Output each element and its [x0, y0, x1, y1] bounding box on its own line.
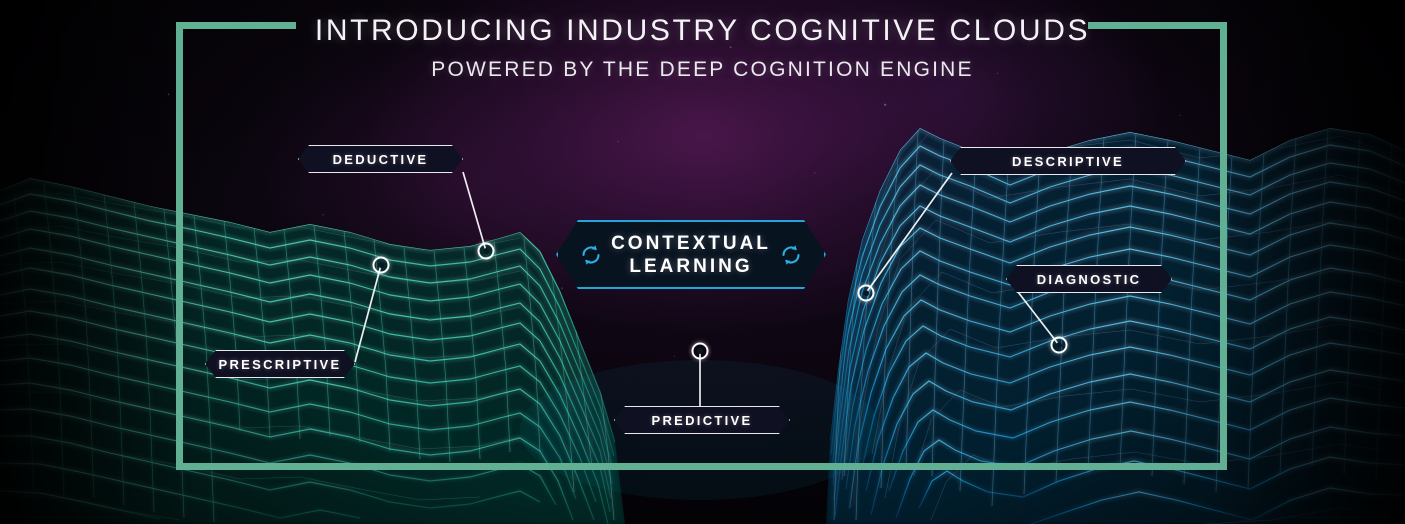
node-marker-deductive[interactable] — [478, 243, 495, 260]
node-marker-prescriptive[interactable] — [373, 257, 390, 274]
chip-label-prescriptive: PRESCRIPTIVE — [213, 357, 348, 372]
frame-left-segment — [176, 22, 183, 470]
page-subtitle: POWERED BY THE DEEP COGNITION ENGINE — [0, 58, 1405, 82]
node-marker-diagnostic[interactable] — [1051, 337, 1068, 354]
contextual-learning-badge[interactable]: CONTEXTUAL LEARNING — [556, 220, 826, 289]
chip-predictive[interactable]: PREDICTIVE — [614, 406, 790, 434]
chip-deductive[interactable]: DEDUCTIVE — [298, 145, 463, 173]
cycle-refresh-icon-left — [578, 242, 604, 268]
frame-right-segment — [1220, 22, 1227, 470]
chip-descriptive[interactable]: DESCRIPTIVE — [950, 147, 1186, 175]
cognitive-clouds-banner: INTRODUCING INDUSTRY COGNITIVE CLOUDS PO… — [0, 0, 1405, 524]
chip-label-predictive: PREDICTIVE — [645, 413, 758, 428]
chip-diagnostic[interactable]: DIAGNOSTIC — [1006, 265, 1172, 293]
contextual-learning-label: CONTEXTUAL LEARNING — [611, 232, 771, 278]
chip-label-diagnostic: DIAGNOSTIC — [1031, 272, 1148, 287]
cycle-refresh-icon-right — [778, 242, 804, 268]
chip-label-descriptive: DESCRIPTIVE — [1006, 154, 1130, 169]
frame-bottom-segment — [176, 463, 1227, 470]
chip-prescriptive[interactable]: PRESCRIPTIVE — [205, 350, 355, 378]
node-marker-predictive[interactable] — [692, 343, 709, 360]
chip-label-deductive: DEDUCTIVE — [327, 152, 435, 167]
node-marker-descriptive[interactable] — [858, 285, 875, 302]
page-title: INTRODUCING INDUSTRY COGNITIVE CLOUDS — [0, 14, 1405, 48]
